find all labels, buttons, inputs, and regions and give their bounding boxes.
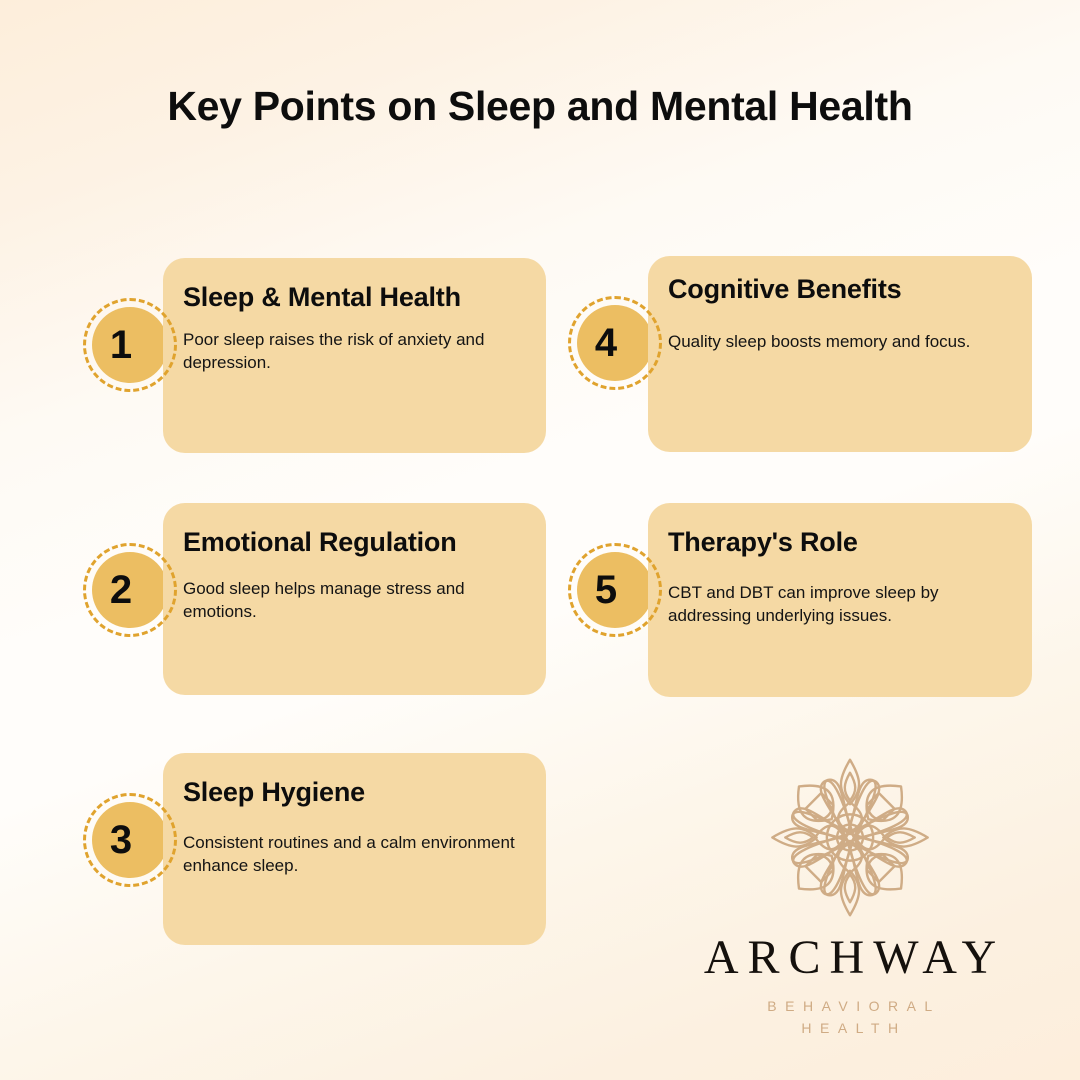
- mandala-flower-icon: [750, 745, 950, 930]
- card-body-2: Emotional Regulation Good sleep helps ma…: [163, 503, 546, 695]
- card-heading: Sleep & Mental Health: [183, 282, 520, 313]
- logo-wordmark: ARCHWAY: [650, 934, 1050, 982]
- card-description: Good sleep helps manage stress and emoti…: [183, 578, 520, 623]
- card-description: CBT and DBT can improve sleep by address…: [668, 582, 1006, 627]
- page-title: Key Points on Sleep and Mental Health: [0, 82, 1080, 131]
- card-body-5: Therapy's Role CBT and DBT can improve s…: [648, 503, 1032, 697]
- dashed-ring-icon: [568, 543, 662, 637]
- card-description: Quality sleep boosts memory and focus.: [668, 331, 1006, 354]
- infographic-poster: Key Points on Sleep and Mental Health 1 …: [0, 0, 1080, 1080]
- card-heading: Therapy's Role: [668, 527, 1006, 558]
- dashed-ring-icon: [83, 793, 177, 887]
- card-description: Consistent routines and a calm environme…: [183, 832, 520, 877]
- dashed-ring-icon: [568, 296, 662, 390]
- card-heading: Sleep Hygiene: [183, 777, 520, 808]
- card-description: Poor sleep raises the risk of anxiety an…: [183, 329, 520, 374]
- card-heading: Cognitive Benefits: [668, 274, 1006, 305]
- brand-logo: ARCHWAY BEHAVIORAL HEALTH: [650, 745, 1050, 1039]
- card-body-3: Sleep Hygiene Consistent routines and a …: [163, 753, 546, 945]
- dashed-ring-icon: [83, 543, 177, 637]
- card-heading: Emotional Regulation: [183, 527, 520, 558]
- card-body-1: Sleep & Mental Health Poor sleep raises …: [163, 258, 546, 453]
- dashed-ring-icon: [83, 298, 177, 392]
- card-body-4: Cognitive Benefits Quality sleep boosts …: [648, 256, 1032, 452]
- logo-tagline-line-1: BEHAVIORAL: [650, 996, 1050, 1017]
- logo-tagline-line-2: HEALTH: [650, 1018, 1050, 1039]
